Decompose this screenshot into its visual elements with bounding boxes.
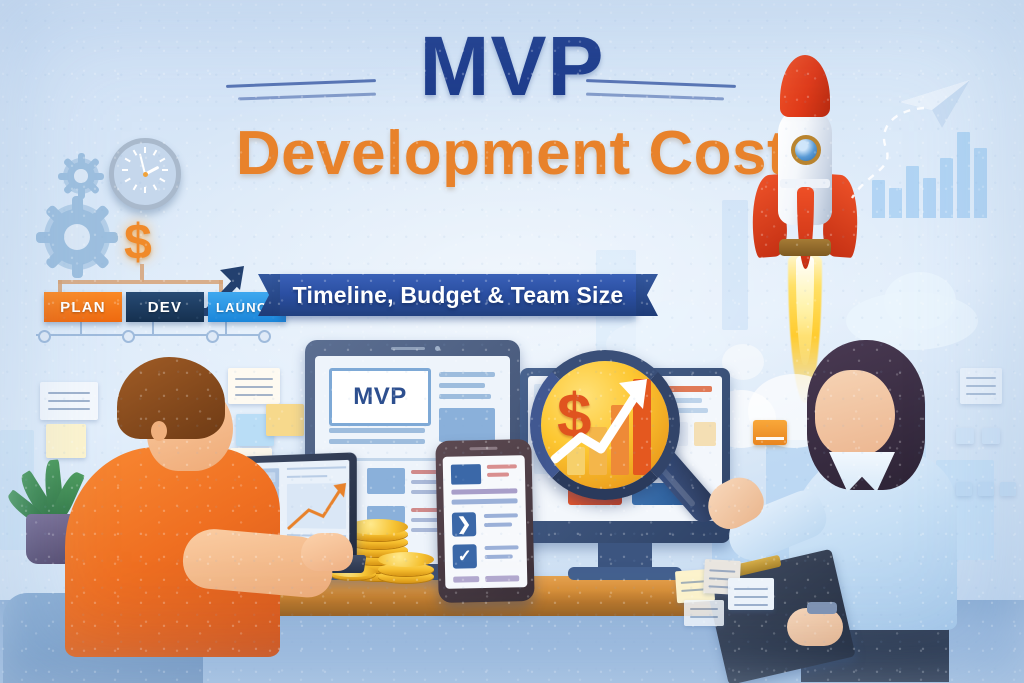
wall-card xyxy=(982,428,1000,444)
timeline-stem-1 xyxy=(80,322,82,334)
ribbon-label: Timeline, Budget & Team Size xyxy=(258,274,658,316)
magnifier-icon: $ xyxy=(530,350,680,500)
timeline-dot-2 xyxy=(122,330,135,343)
paper-plane-trail xyxy=(838,100,928,210)
timeline-dot-1 xyxy=(38,330,51,343)
wall-card xyxy=(960,368,1002,404)
rocket-nose xyxy=(780,55,830,117)
wall-card xyxy=(1000,482,1016,496)
coin-stack-short xyxy=(378,552,434,584)
monitor-base xyxy=(568,567,682,580)
man-at-laptop xyxy=(55,355,355,655)
desk-sticky-note xyxy=(684,600,724,626)
man-hair xyxy=(117,357,225,439)
timeline-dot-4 xyxy=(258,330,271,343)
wall-card xyxy=(956,428,974,444)
poster-canvas: MVP Development Cost $ xyxy=(0,0,1024,683)
rocket-nozzle-ring xyxy=(779,239,831,256)
timeline-dot-3 xyxy=(206,330,219,343)
woman-face xyxy=(815,370,895,456)
man-hand xyxy=(301,533,353,571)
phone-screen: ❯ ✓ xyxy=(443,455,528,589)
wall-card xyxy=(978,482,994,496)
smartphone-device[interactable]: ❯ ✓ xyxy=(435,439,534,603)
phone-speaker xyxy=(469,447,497,451)
timeline-stem-2 xyxy=(152,322,154,334)
timeline-stem-3 xyxy=(225,322,227,334)
clock-icon xyxy=(109,138,181,210)
monitor-stand xyxy=(598,543,652,569)
subtitle-ribbon: Timeline, Budget & Team Size xyxy=(258,274,658,316)
man-ear xyxy=(151,421,167,441)
woman-watch xyxy=(807,602,837,614)
phone-arrow-badge: ❯ xyxy=(452,512,476,536)
envelope-icon xyxy=(753,420,787,445)
desk-sticky-note xyxy=(728,578,774,610)
wall-card xyxy=(956,482,972,496)
magnifier-rim xyxy=(530,350,680,500)
rocket-window xyxy=(791,135,821,165)
dollar-sign-icon: $ xyxy=(124,213,152,271)
phone-check-badge: ✓ xyxy=(452,544,476,568)
tablet-camera-icon xyxy=(435,346,440,351)
timeline-track xyxy=(36,334,266,336)
gear-icon-small xyxy=(58,153,104,199)
gear-icon-large xyxy=(36,196,118,278)
tablet-speaker xyxy=(391,347,425,350)
phase-chip-dev[interactable]: DEV xyxy=(126,292,204,322)
phase-chip-plan[interactable]: PLAN xyxy=(44,292,122,322)
